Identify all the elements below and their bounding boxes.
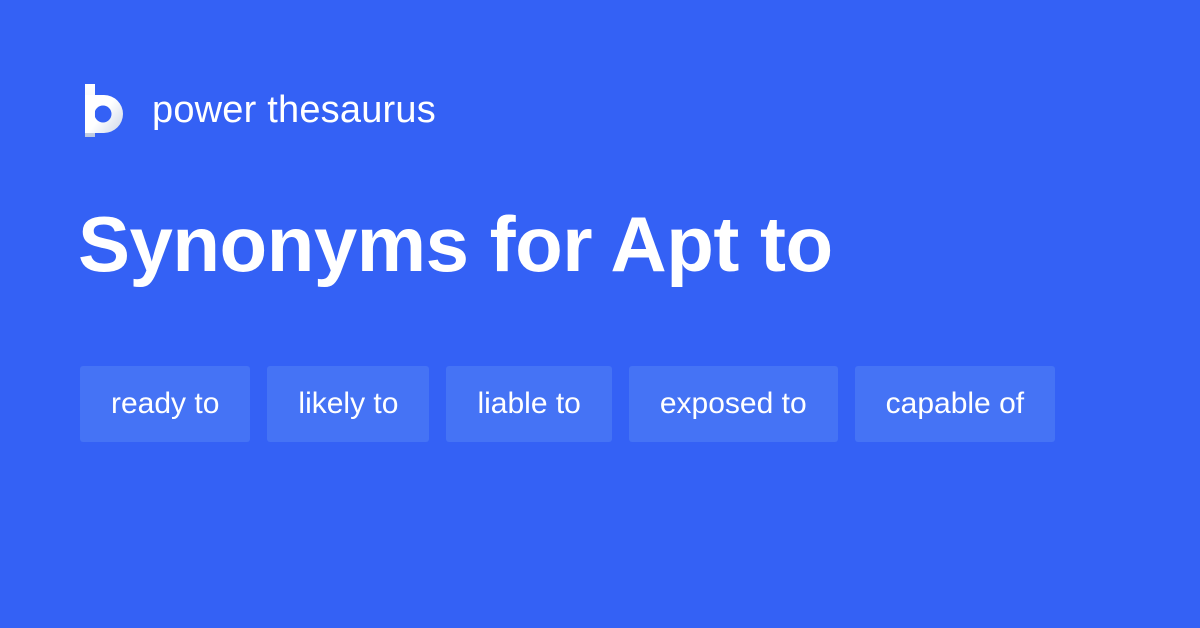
synonym-chip[interactable]: liable to bbox=[446, 366, 611, 442]
synonym-chip[interactable]: exposed to bbox=[629, 366, 838, 442]
power-thesaurus-b-logo-icon bbox=[80, 84, 128, 137]
synonym-chip-list: ready to likely to liable to exposed to … bbox=[80, 366, 1140, 442]
synonym-chip[interactable]: capable of bbox=[855, 366, 1055, 442]
share-card-canvas: power thesaurus Synonyms for Apt to read… bbox=[0, 0, 1200, 628]
synonym-chip[interactable]: likely to bbox=[267, 366, 429, 442]
brand-lockup[interactable]: power thesaurus bbox=[80, 80, 436, 140]
synonym-chip[interactable]: ready to bbox=[80, 366, 250, 442]
page-title: Synonyms for Apt to bbox=[78, 196, 1118, 292]
brand-name: power thesaurus bbox=[152, 91, 436, 129]
